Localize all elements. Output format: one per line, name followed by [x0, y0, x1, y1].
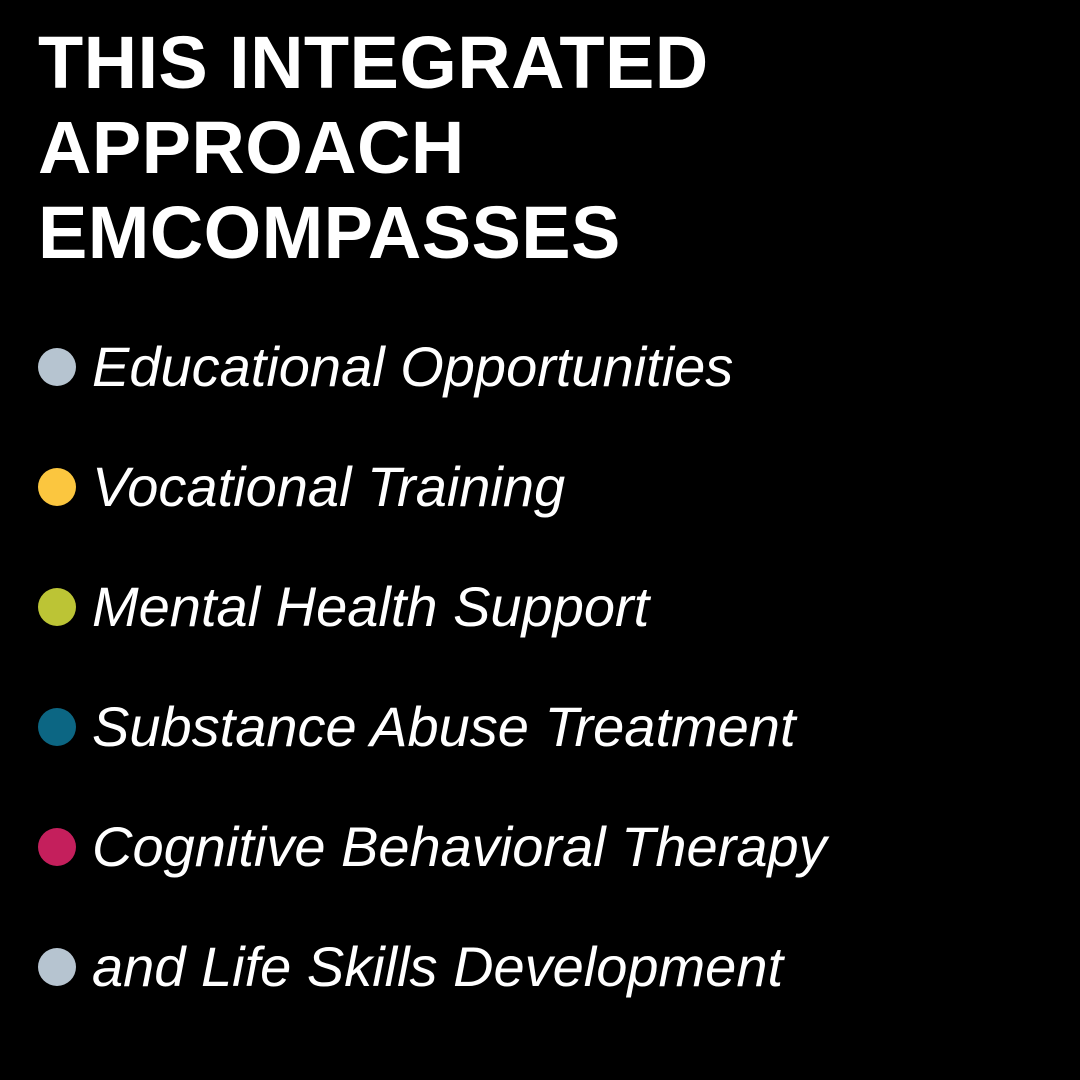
list-item: Cognitive Behavioral Therapy — [38, 787, 1048, 907]
bullet-dot-icon — [38, 948, 76, 986]
heading-line-1: THIS INTEGRATED — [38, 20, 1018, 105]
page-title: THIS INTEGRATED APPROACH EMCOMPASSES — [38, 20, 1018, 275]
list-item-label: Cognitive Behavioral Therapy — [92, 817, 1048, 877]
bullet-dot-icon — [38, 588, 76, 626]
list-item-label: Mental Health Support — [92, 577, 1048, 637]
bullet-dot-icon — [38, 468, 76, 506]
list-item-label: Substance Abuse Treatment — [92, 697, 1048, 757]
list-item: Educational Opportunities — [38, 307, 1048, 427]
slide-canvas: THIS INTEGRATED APPROACH EMCOMPASSES Edu… — [0, 0, 1080, 1080]
list-item: Mental Health Support — [38, 547, 1048, 667]
bullet-dot-icon — [38, 348, 76, 386]
list-item: Vocational Training — [38, 427, 1048, 547]
list-item-label: Vocational Training — [92, 457, 1048, 517]
list-item-label: Educational Opportunities — [92, 337, 1048, 397]
bullet-dot-icon — [38, 828, 76, 866]
list-item-label: and Life Skills Development — [92, 937, 1048, 997]
heading-line-2: APPROACH — [38, 105, 1018, 190]
list-item: and Life Skills Development — [38, 907, 1048, 1027]
bullet-dot-icon — [38, 708, 76, 746]
heading-line-3: EMCOMPASSES — [38, 190, 1018, 275]
bullet-list: Educational Opportunities Vocational Tra… — [38, 307, 1048, 1027]
list-item: Substance Abuse Treatment — [38, 667, 1048, 787]
